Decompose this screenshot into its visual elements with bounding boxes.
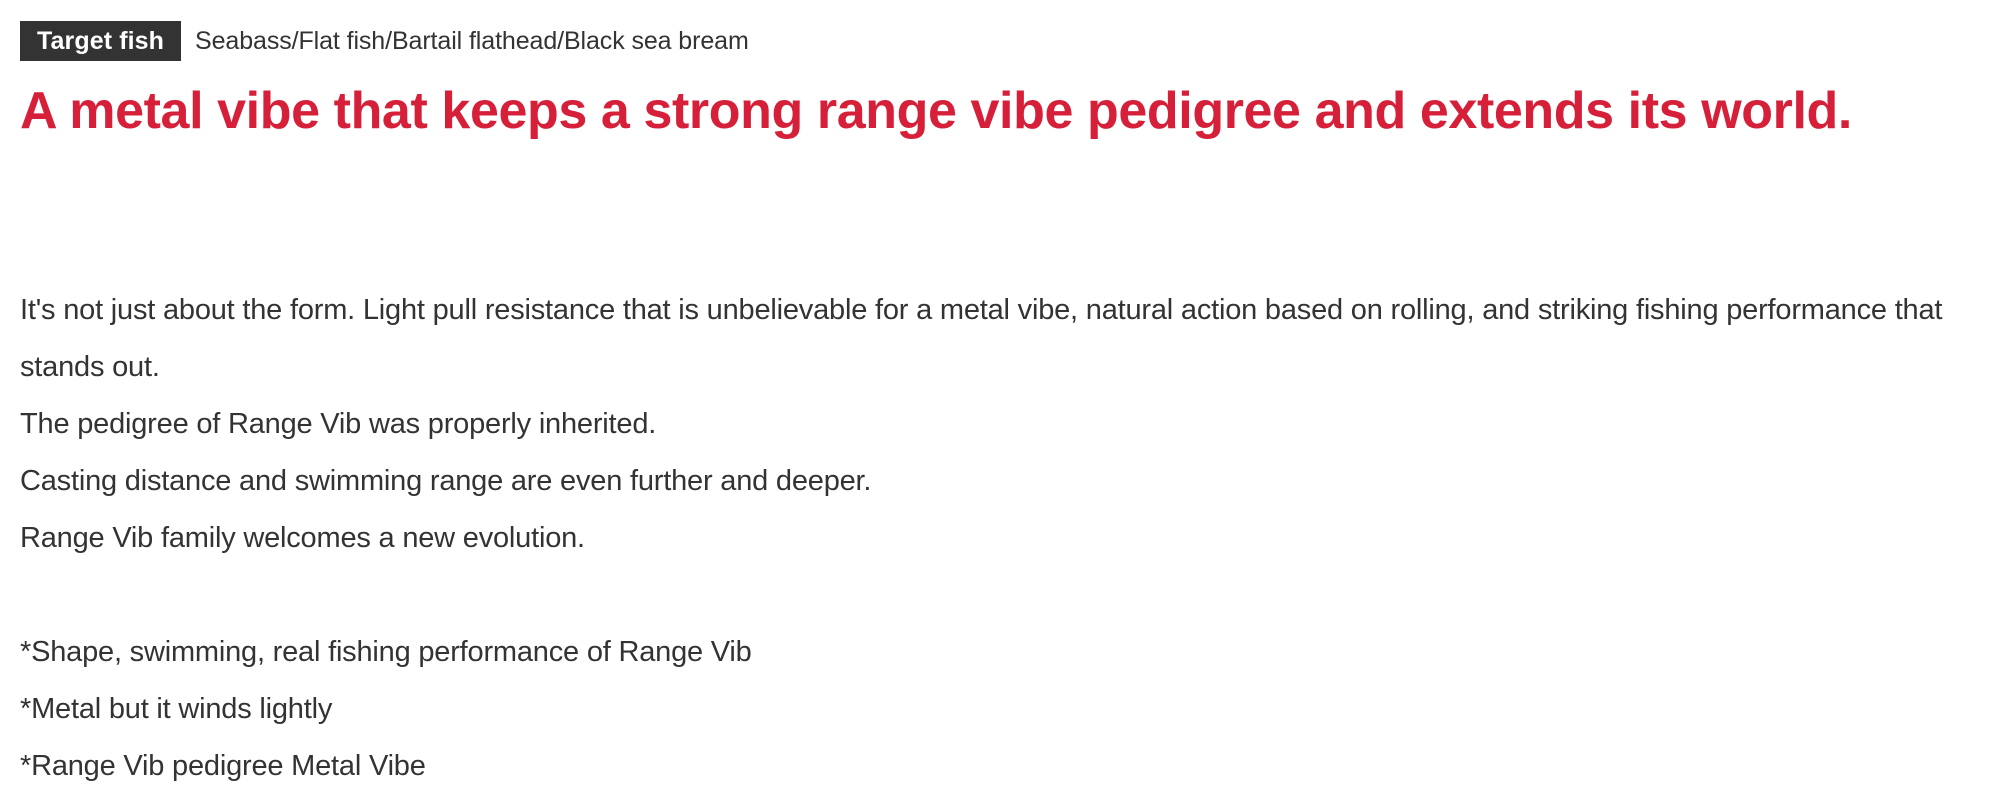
target-fish-row: Target fish Seabass/Flat fish/Bartail fl…	[20, 21, 749, 61]
description-paragraph-4: Range Vib family welcomes a new evolutio…	[20, 510, 1980, 567]
description-paragraph-3: Casting distance and swimming range are …	[20, 453, 1980, 510]
feature-line-2: *Metal but it winds lightly	[20, 681, 1980, 738]
page-title: A metal vibe that keeps a strong range v…	[20, 78, 1985, 145]
target-fish-badge: Target fish	[20, 21, 181, 61]
target-fish-species-list: Seabass/Flat fish/Bartail flathead/Black…	[195, 27, 749, 56]
description-block: It's not just about the form. Light pull…	[20, 282, 1980, 795]
description-paragraph-2: The pedigree of Range Vib was properly i…	[20, 396, 1980, 453]
feature-line-1: *Shape, swimming, real fishing performan…	[20, 624, 1980, 681]
paragraph-spacer	[20, 567, 1980, 624]
product-description-page: Target fish Seabass/Flat fish/Bartail fl…	[0, 0, 2000, 809]
description-paragraph-1: It's not just about the form. Light pull…	[20, 282, 1980, 396]
feature-line-3: *Range Vib pedigree Metal Vibe	[20, 738, 1980, 795]
